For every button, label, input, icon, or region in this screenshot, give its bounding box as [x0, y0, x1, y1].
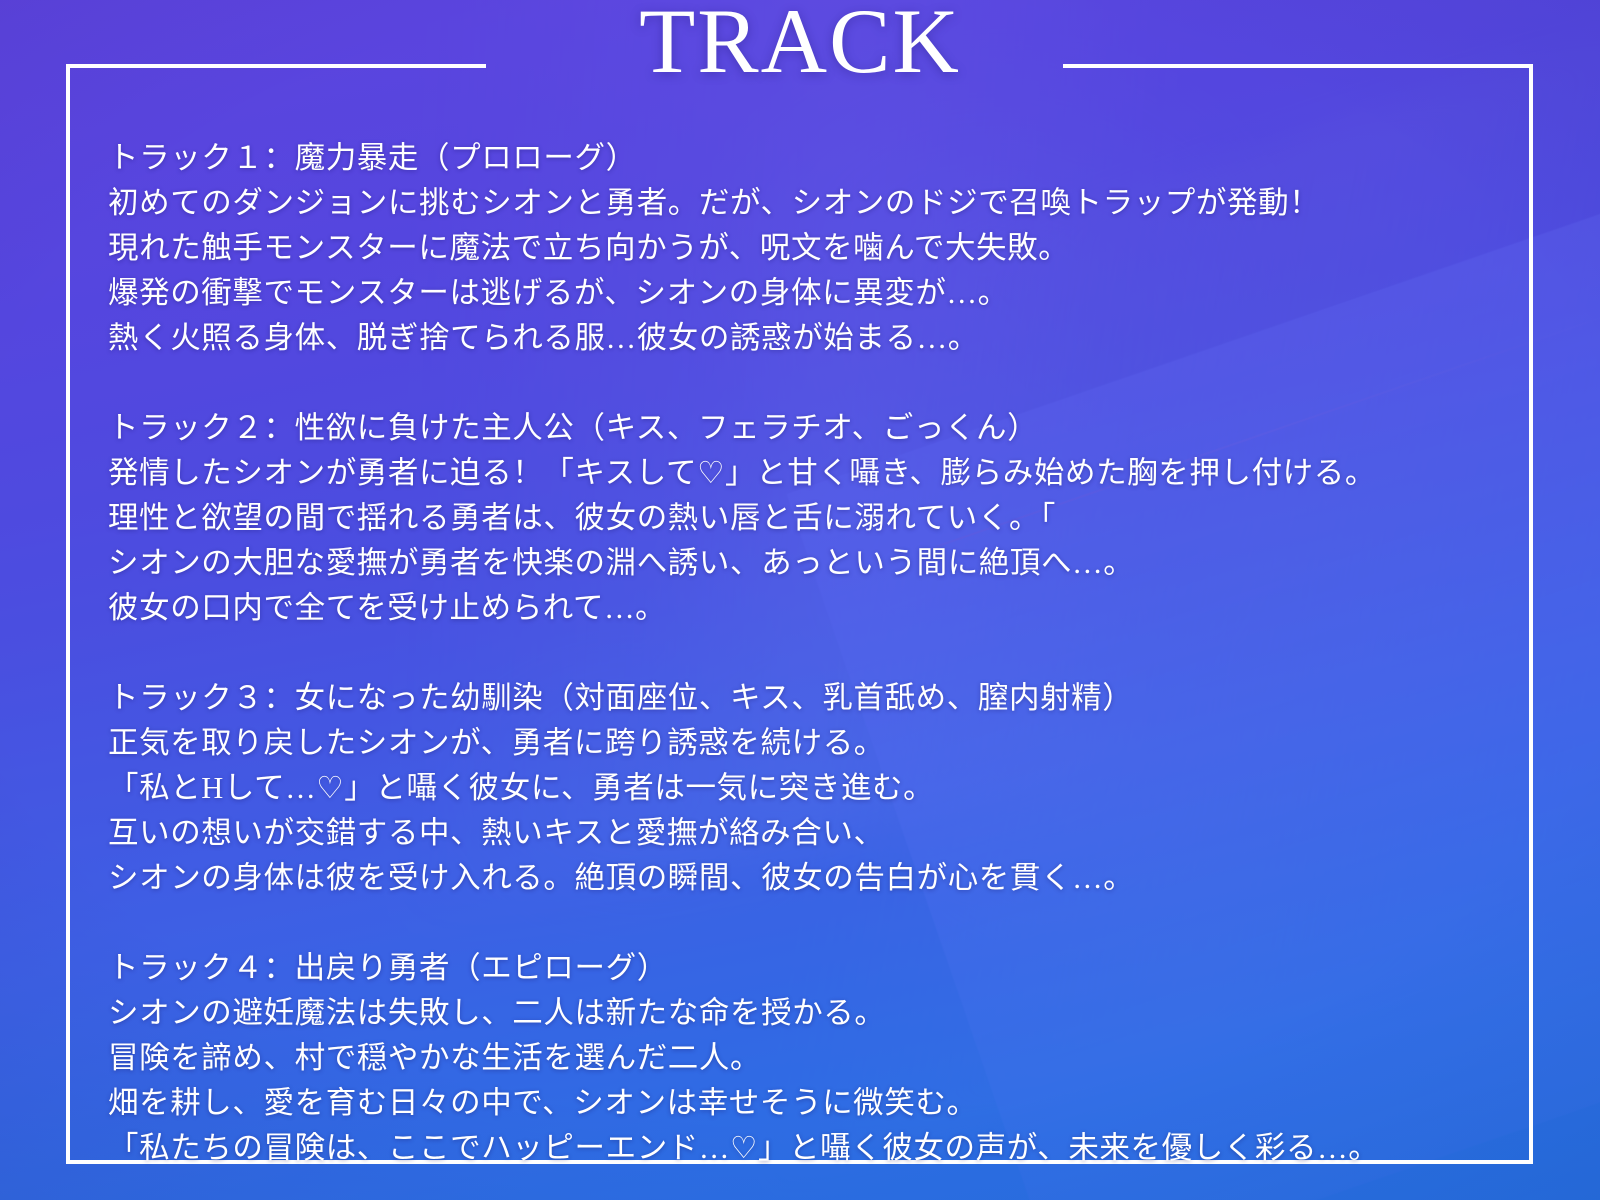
- track-list: トラック１：魔力暴走（プロローグ） 初めてのダンジョンに挑むシオンと勇者。だが、…: [108, 136, 1508, 1171]
- track-description-line: 互いの想いが交錯する中、熱いキスと愛撫が絡み合い、: [108, 811, 1508, 856]
- track-description-line: シオンの身体は彼を受け入れる。絶頂の瞬間、彼女の告白が心を貫く…。: [108, 856, 1508, 901]
- track-description-line: 熱く火照る身体、脱ぎ捨てられる服…彼女の誘惑が始まる…。: [108, 316, 1508, 361]
- track-description-line: 現れた触手モンスターに魔法で立ち向かうが、呪文を噛んで大失敗。: [108, 226, 1508, 271]
- track-entry-3: トラック３：女になった幼馴染（対面座位、キス、乳首舐め、膣内射精） 正気を取り戻…: [108, 676, 1508, 901]
- track-heading: トラック４：出戻り勇者（エピローグ）: [108, 946, 1508, 991]
- track-description-line: シオンの避妊魔法は失敗し、二人は新たな命を授かる。: [108, 991, 1508, 1036]
- track-heading: トラック１：魔力暴走（プロローグ）: [108, 136, 1508, 181]
- track-description-line: 初めてのダンジョンに挑むシオンと勇者。だが、シオンのドジで召喚トラップが発動！: [108, 181, 1508, 226]
- track-entry-2: トラック２：性欲に負けた主人公（キス、フェラチオ、ごっくん） 発情したシオンが勇…: [108, 406, 1508, 631]
- track-description-line: 発情したシオンが勇者に迫る！「キスして♡」と甘く囁き、膨らみ始めた胸を押し付ける…: [108, 451, 1508, 496]
- track-listing-page: TRACK トラック１：魔力暴走（プロローグ） 初めてのダンジョンに挑むシオンと…: [0, 0, 1600, 1200]
- track-description-line: 「私とHして…♡」と囁く彼女に、勇者は一気に突き進む。: [108, 766, 1508, 811]
- track-description-line: 理性と欲望の間で揺れる勇者は、彼女の熱い唇と舌に溺れていく。「: [108, 496, 1508, 541]
- track-entry-1: トラック１：魔力暴走（プロローグ） 初めてのダンジョンに挑むシオンと勇者。だが、…: [108, 136, 1508, 361]
- track-description-line: 畑を耕し、愛を育む日々の中で、シオンは幸せそうに微笑む。: [108, 1081, 1508, 1126]
- track-description-line: 正気を取り戻したシオンが、勇者に跨り誘惑を続ける。: [108, 721, 1508, 766]
- track-description-line: 「私たちの冒険は、ここでハッピーエンド…♡」と囁く彼女の声が、未来を優しく彩る……: [108, 1126, 1508, 1171]
- track-description-line: 冒険を諦め、村で穏やかな生活を選んだ二人。: [108, 1036, 1508, 1081]
- track-heading: トラック２：性欲に負けた主人公（キス、フェラチオ、ごっくん）: [108, 406, 1508, 451]
- page-title: TRACK: [0, 0, 1600, 87]
- track-description-line: 彼女の口内で全てを受け止められて…。: [108, 586, 1508, 631]
- track-description-line: 爆発の衝撃でモンスターは逃げるが、シオンの身体に異変が…。: [108, 271, 1508, 316]
- track-entry-4: トラック４：出戻り勇者（エピローグ） シオンの避妊魔法は失敗し、二人は新たな命を…: [108, 946, 1508, 1171]
- track-heading: トラック３：女になった幼馴染（対面座位、キス、乳首舐め、膣内射精）: [108, 676, 1508, 721]
- track-description-line: シオンの大胆な愛撫が勇者を快楽の淵へ誘い、あっという間に絶頂へ…。: [108, 541, 1508, 586]
